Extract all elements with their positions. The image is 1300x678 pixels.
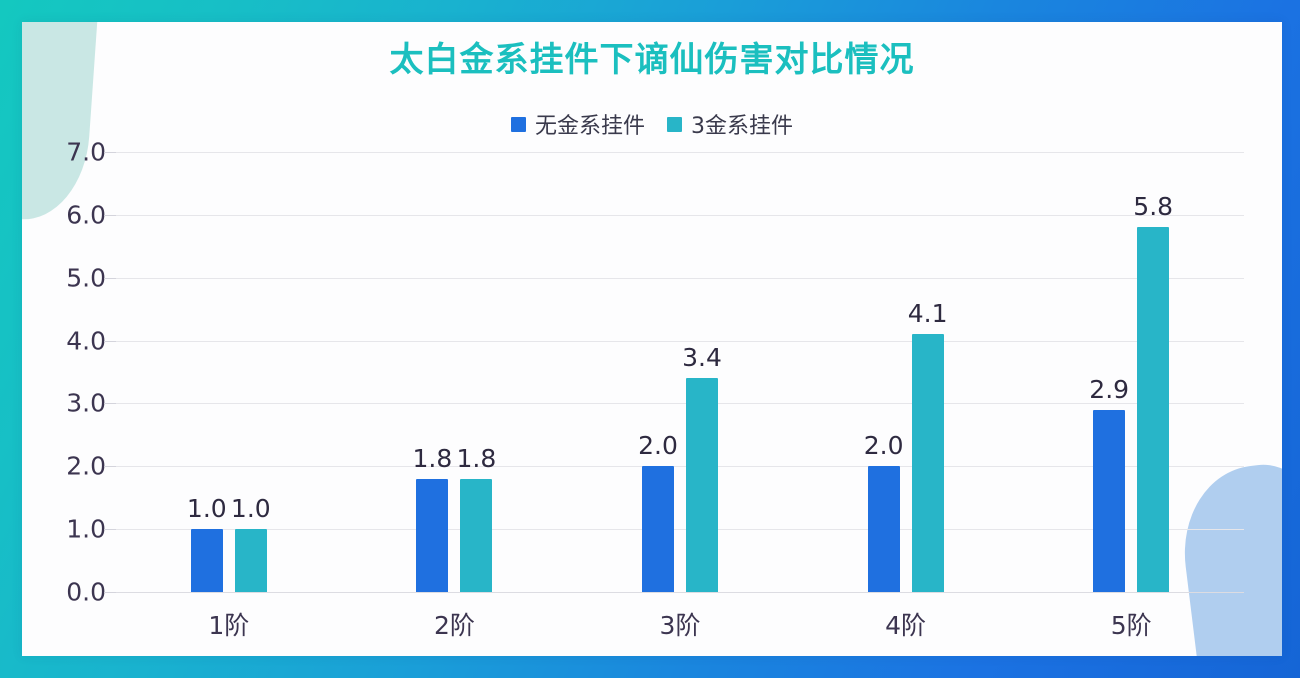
y-axis-tick-label: 3.0 (66, 389, 106, 418)
y-axis: 0.01.02.03.04.05.06.07.0 (22, 152, 118, 592)
bar-group: 2.03.4 (567, 152, 793, 592)
bar-value-label: 3.4 (682, 343, 722, 372)
bar-value-label: 2.9 (1089, 375, 1129, 404)
bar-group: 2.04.1 (793, 152, 1019, 592)
legend-label: 3金系挂件 (691, 108, 793, 140)
y-axis-tick-label: 1.0 (66, 515, 106, 544)
y-axis-tick-mark (104, 592, 116, 593)
x-axis-tick-label: 4阶 (885, 606, 926, 642)
bar-value-label: 1.8 (413, 444, 453, 473)
bar-column[interactable]: 1.0 (235, 152, 267, 592)
legend-label: 无金系挂件 (535, 108, 645, 140)
chart-title: 太白金系挂件下谪仙伤害对比情况 (22, 32, 1282, 81)
bar[interactable] (868, 466, 900, 592)
bar-value-label: 4.1 (908, 299, 948, 328)
x-axis: 1阶2阶3阶4阶5阶 (116, 600, 1244, 650)
legend-entry[interactable]: 无金系挂件 (511, 108, 645, 140)
y-axis-tick-mark (104, 466, 116, 467)
bar-value-label: 1.0 (187, 494, 227, 523)
bar-value-label: 1.0 (231, 494, 271, 523)
y-axis-tick-mark (104, 341, 116, 342)
decorative-frame: 太白金系挂件下谪仙伤害对比情况 无金系挂件3金系挂件 0.01.02.03.04… (0, 0, 1300, 678)
bar-column[interactable]: 1.8 (460, 152, 492, 592)
y-axis-tick-label: 2.0 (66, 452, 106, 481)
bar-column[interactable]: 1.8 (416, 152, 448, 592)
y-axis-tick-mark (104, 152, 116, 153)
bar[interactable] (686, 378, 718, 592)
bar-value-label: 5.8 (1133, 192, 1173, 221)
y-axis-tick-mark (104, 529, 116, 530)
bar-group: 2.95.8 (1018, 152, 1244, 592)
bar[interactable] (1093, 410, 1125, 592)
gridline (116, 592, 1244, 593)
bar-column[interactable]: 2.0 (642, 152, 674, 592)
bar-group: 1.81.8 (342, 152, 568, 592)
bar-column[interactable]: 2.0 (868, 152, 900, 592)
y-axis-tick-mark (104, 403, 116, 404)
bar-value-label: 1.8 (457, 444, 497, 473)
x-axis-tick-label: 2阶 (434, 606, 475, 642)
bar-column[interactable]: 1.0 (191, 152, 223, 592)
bar-value-label: 2.0 (638, 431, 678, 460)
y-axis-tick-mark (104, 278, 116, 279)
y-axis-tick-label: 5.0 (66, 263, 106, 292)
legend-swatch-icon (511, 117, 526, 132)
y-axis-tick-label: 4.0 (66, 326, 106, 355)
bar-value-label: 2.0 (864, 431, 904, 460)
y-axis-tick-label: 6.0 (66, 200, 106, 229)
bar[interactable] (235, 529, 267, 592)
bar[interactable] (460, 479, 492, 592)
legend-entry[interactable]: 3金系挂件 (667, 108, 793, 140)
bar-column[interactable]: 5.8 (1137, 152, 1169, 592)
x-axis-tick-label: 3阶 (660, 606, 701, 642)
bar-column[interactable]: 2.9 (1093, 152, 1125, 592)
bar-column[interactable]: 4.1 (912, 152, 944, 592)
bar[interactable] (191, 529, 223, 592)
y-axis-tick-label: 0.0 (66, 578, 106, 607)
chart-canvas: 太白金系挂件下谪仙伤害对比情况 无金系挂件3金系挂件 0.01.02.03.04… (22, 22, 1282, 656)
bar[interactable] (1137, 227, 1169, 592)
bars-layer: 1.01.01.81.82.03.42.04.12.95.8 (116, 152, 1244, 592)
bar-column[interactable]: 3.4 (686, 152, 718, 592)
bar-group: 1.01.0 (116, 152, 342, 592)
x-axis-tick-label: 1阶 (208, 606, 249, 642)
legend-swatch-icon (667, 117, 682, 132)
plot-region: 0.01.02.03.04.05.06.07.0 1.01.01.81.82.0… (22, 152, 1282, 656)
y-axis-tick-label: 7.0 (66, 138, 106, 167)
bar[interactable] (416, 479, 448, 592)
bar[interactable] (912, 334, 944, 592)
bar[interactable] (642, 466, 674, 592)
y-axis-tick-mark (104, 215, 116, 216)
chart-legend: 无金系挂件3金系挂件 (22, 108, 1282, 140)
x-axis-tick-label: 5阶 (1111, 606, 1152, 642)
